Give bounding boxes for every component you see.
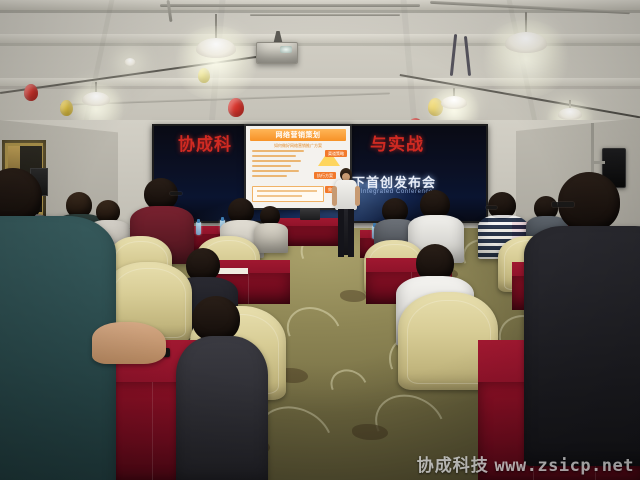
slide-chip-1: 渠道策略 [325,150,347,157]
handout-paper [216,268,248,274]
conference-room-photo: 协成科 与实战 下首创发布会 IT Integrated Conference … [0,0,640,480]
slide-subtitle: 如何做好网络营销推广方案 [274,143,322,149]
track-light [120,56,140,70]
pendant-light [186,14,246,62]
banner-title-left: 协成科 [178,130,232,155]
laptop [300,208,320,220]
ceiling-projector [256,42,296,62]
presenter-speaker [333,168,359,264]
eyeglasses [552,202,574,207]
eyeglasses [170,192,182,195]
banner-title-right: 与实战 [370,130,424,155]
slide-footer-box [252,186,324,202]
watermark-brand: 协成科技 [417,456,489,475]
attendee-arm [92,322,166,364]
banner-subtitle-english: IT Integrated Conference [352,189,433,195]
slide-header-bar: 网络营销策划 [250,129,346,141]
pendant-light [496,12,556,60]
watermark: 协成科技 www.zsicp.net [417,451,634,476]
slide-bullet-list [252,150,308,180]
water-bottle [196,222,201,235]
balloon-red [24,84,38,101]
eyeglasses [486,206,497,209]
slide-header-text: 网络营销策划 [276,130,321,140]
pendant-light [432,88,476,118]
pendant-light [74,82,118,114]
ceiling [0,0,640,126]
balloon-red [228,98,244,117]
watermark-url: www.zsicp.net [494,456,634,476]
